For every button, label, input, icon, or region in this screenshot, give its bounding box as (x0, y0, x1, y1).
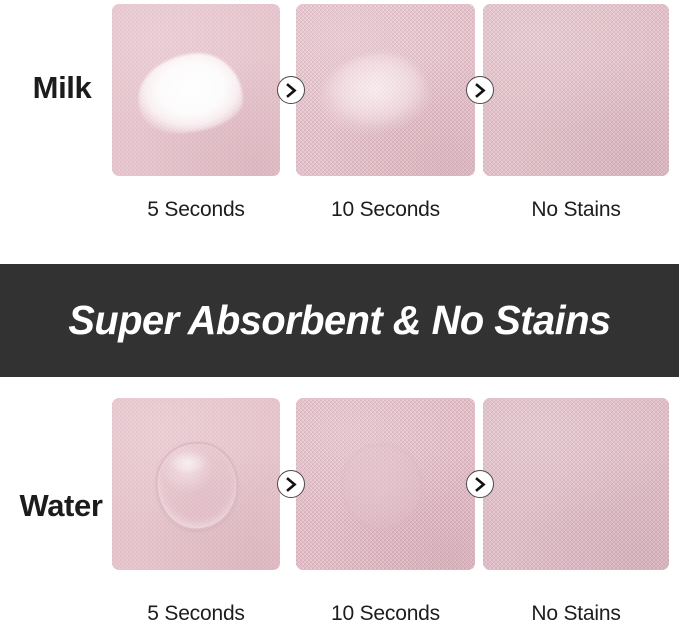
water-mark-faded (342, 444, 422, 530)
water-swatch-10-seconds (296, 398, 475, 570)
chevron-right-icon (277, 76, 305, 104)
caption-water-step-2: 10 Seconds (296, 602, 475, 626)
chevron-right-icon (466, 76, 494, 104)
fabric-sheen (483, 4, 669, 176)
row-label-milk: Milk (14, 70, 110, 106)
water-droplet-fresh (156, 442, 238, 530)
milk-swatch-no-stains (483, 4, 669, 176)
milk-swatch-5-seconds (112, 4, 280, 176)
chevron-right-icon (277, 470, 305, 498)
caption-milk-step-1: 5 Seconds (112, 198, 280, 222)
row-label-water: Water (6, 488, 116, 524)
water-test-row: Water 5 Seconds 10 Seconds No Stains (0, 380, 679, 626)
water-swatch-5-seconds (112, 398, 280, 570)
caption-water-step-3: No Stains (483, 602, 669, 626)
caption-milk-step-3: No Stains (483, 198, 669, 222)
caption-water-step-1: 5 Seconds (112, 602, 280, 626)
milk-swatch-10-seconds (296, 4, 475, 176)
chevron-right-icon (466, 470, 494, 498)
headline-banner: Super Absorbent & No Stains (0, 264, 679, 377)
water-swatch-no-stains (483, 398, 669, 570)
droplet-highlight (169, 451, 207, 474)
caption-milk-step-2: 10 Seconds (296, 198, 475, 222)
headline-text: Super Absorbent & No Stains (68, 297, 610, 344)
milk-test-row: Milk 5 Seconds 10 Seconds No Stains (0, 0, 679, 250)
fabric-sheen (483, 398, 669, 570)
